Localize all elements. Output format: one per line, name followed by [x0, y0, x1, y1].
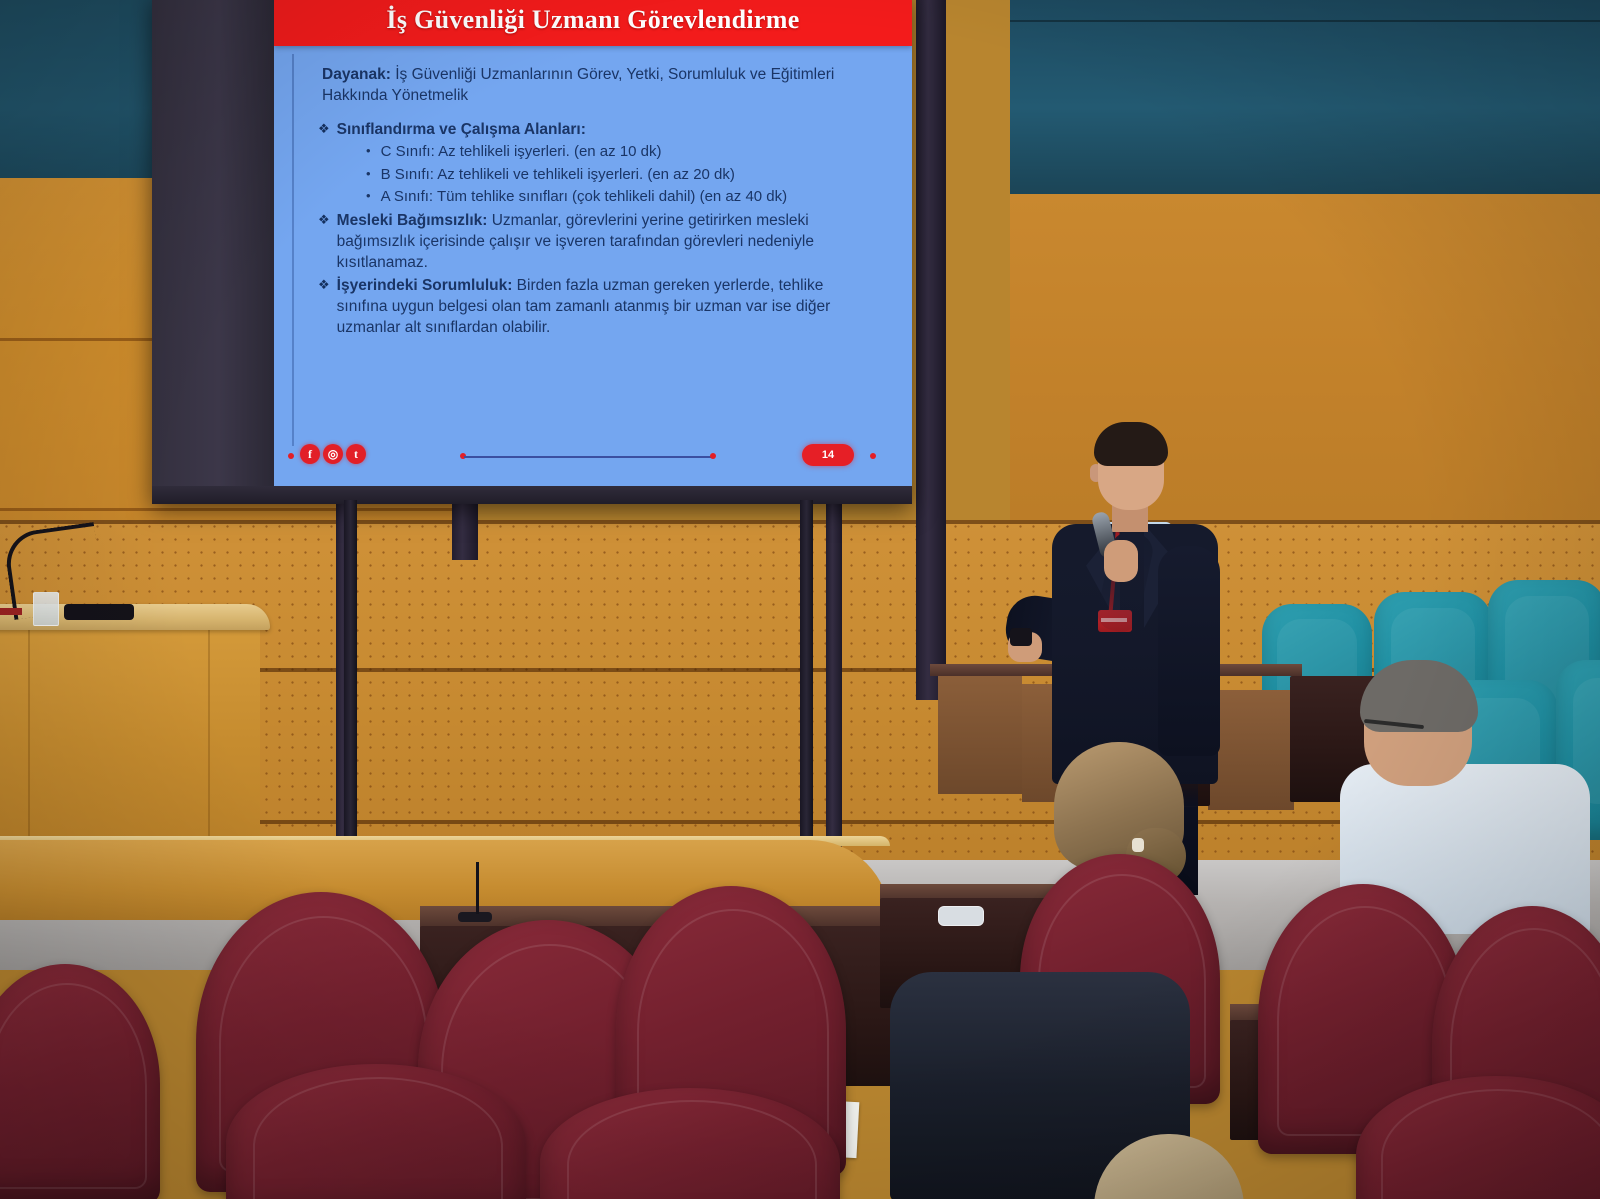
footer-rule — [464, 456, 712, 458]
diamond-bullet-icon: ❖ — [318, 210, 330, 230]
lectern-body — [0, 612, 260, 872]
bullet-bold: Mesleki Bağımsızlık: — [337, 212, 488, 229]
sub-bullet-text: A Sınıfı: Tüm tehlike sınıfları (çok teh… — [381, 187, 788, 208]
bullet-item: ❖ İşyerindeki Sorumluluk: Birden fazla u… — [318, 275, 878, 338]
bullet-item: ❖ Sınıflandırma ve Çalışma Alanları: — [318, 119, 878, 140]
presentation-clicker — [1010, 628, 1032, 646]
sub-bullet-text: C Sınıfı: Az tehlikeli işyerleri. (en az… — [381, 142, 662, 163]
dayanak-text: İş Güvenliği Uzmanlarının Görev, Yetki, … — [322, 66, 834, 104]
dayanak-label: Dayanak: — [322, 66, 391, 83]
sub-bullet-item: • B Sınıfı: Az tehlikeli ve tehlikeli iş… — [366, 165, 882, 186]
slide-footer: f ◎ t 14 — [274, 438, 912, 472]
bullet-bold: İşyerindeki Sorumluluk: — [337, 277, 513, 294]
twitter-icon: t — [346, 444, 366, 464]
attendee-glasses — [1330, 660, 1600, 920]
slide-body: Dayanak: İş Güvenliği Uzmanlarının Görev… — [274, 46, 912, 486]
bullet-text: İşyerindeki Sorumluluk: Birden fazla uzm… — [337, 275, 878, 338]
slide-title-bar: İş Güvenliği Uzmanı Görevlendirme — [274, 0, 912, 46]
screen-bezel-left — [152, 0, 274, 504]
social-icons-group: f ◎ t — [300, 444, 366, 464]
water-glass — [938, 906, 984, 926]
slide-dayanak-paragraph: Dayanak: İş Güvenliği Uzmanlarının Görev… — [322, 64, 867, 107]
bullet-item: ❖ Mesleki Bağımsızlık: Uzmanlar, görevle… — [318, 210, 878, 273]
water-glass — [33, 592, 59, 626]
sub-bullet-item: • C Sınıfı: Az tehlikeli işyerleri. (en … — [366, 142, 882, 163]
dot-bullet-icon: • — [366, 187, 371, 206]
sub-bullet-text: B Sınıfı: Az tehlikeli ve tehlikeli işye… — [381, 165, 735, 186]
auditorium-seat-maroon — [0, 964, 160, 1199]
diamond-bullet-icon: ❖ — [318, 119, 330, 139]
desk-microphone-base — [458, 912, 492, 922]
screen-support-leg-left — [344, 500, 357, 870]
projection-screen: İş Güvenliği Uzmanı Görevlendirme Dayana… — [152, 0, 912, 504]
dot-bullet-icon: • — [366, 165, 371, 184]
bullet-text: Sınıflandırma ve Çalışma Alanları: — [337, 119, 586, 140]
presentation-slide: İş Güvenliği Uzmanı Görevlendirme Dayana… — [274, 0, 912, 486]
screen-support-leg-right — [800, 500, 813, 870]
presenter-hand-holding-mic — [1104, 540, 1138, 582]
bullet-text: Mesleki Bağımsızlık: Uzmanlar, görevleri… — [337, 210, 878, 273]
wall-support-pole-mid — [916, 0, 946, 700]
presenter-right-arm — [1158, 546, 1220, 756]
presenter-hair — [1094, 422, 1168, 466]
screen-bezel-bottom — [152, 486, 912, 504]
dot-bullet-icon: • — [366, 142, 371, 161]
attendee-ponytail-tie — [1132, 838, 1144, 852]
facebook-icon: f — [300, 444, 320, 464]
microphone-base — [64, 604, 134, 620]
wall-support-pole-far-right — [826, 490, 842, 870]
upper-wall-teal-right — [1010, 0, 1600, 196]
slide-title: İş Güvenliği Uzmanı Görevlendirme — [386, 5, 799, 35]
sub-bullet-item: • A Sınıfı: Tüm tehlike sınıfları (çok t… — [366, 187, 882, 208]
presentation-photo-scene: İş Güvenliği Uzmanı Görevlendirme Dayana… — [0, 0, 1600, 1199]
diamond-bullet-icon: ❖ — [318, 275, 330, 295]
slide-number-badge: 14 — [802, 444, 854, 466]
podium-red-marker — [0, 608, 22, 615]
desk-microphone-stem — [476, 862, 479, 914]
bullet-bold: Sınıflandırma ve Çalışma Alanları: — [337, 121, 586, 138]
instagram-icon: ◎ — [323, 444, 343, 464]
